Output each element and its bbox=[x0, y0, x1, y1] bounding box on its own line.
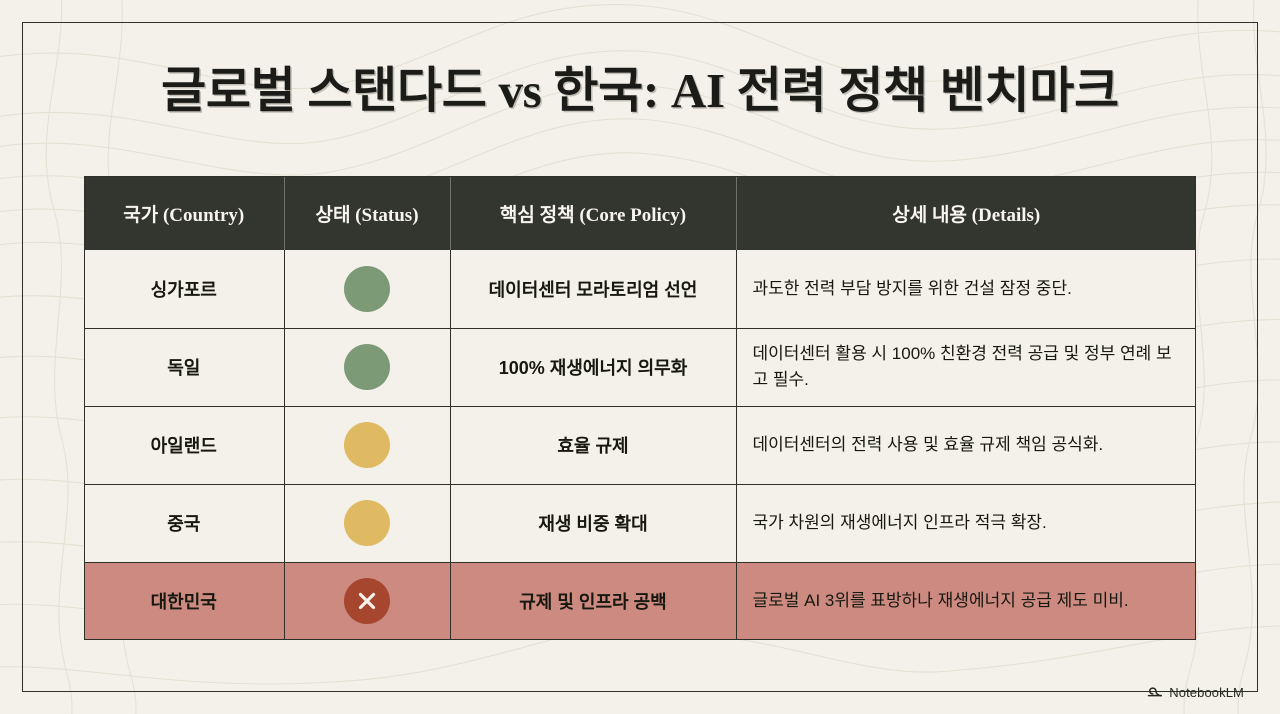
notebooklm-watermark: NotebookLM bbox=[1147, 684, 1244, 700]
column-header-country: 국가 (Country) bbox=[84, 176, 284, 250]
cell-details: 국가 차원의 재생에너지 인프라 적극 확장. bbox=[736, 484, 1196, 562]
cell-country: 아일랜드 bbox=[84, 406, 284, 484]
status-dot-amber-icon bbox=[344, 422, 390, 468]
status-dot-amber-icon bbox=[344, 500, 390, 546]
table-body: 싱가포르 데이터센터 모라토리엄 선언 과도한 전력 부담 방지를 위한 건설 … bbox=[84, 250, 1196, 640]
cell-status bbox=[284, 250, 450, 328]
cell-core-policy: 재생 비중 확대 bbox=[450, 484, 736, 562]
table-row: 독일 100% 재생에너지 의무화 데이터센터 활용 시 100% 친환경 전력… bbox=[84, 328, 1196, 406]
cell-details: 과도한 전력 부담 방지를 위한 건설 잠정 중단. bbox=[736, 250, 1196, 328]
cell-status bbox=[284, 484, 450, 562]
table-header-row: 국가 (Country) 상태 (Status) 핵심 정책 (Core Pol… bbox=[84, 176, 1196, 250]
cell-core-policy: 100% 재생에너지 의무화 bbox=[450, 328, 736, 406]
notebooklm-watermark-label: NotebookLM bbox=[1169, 685, 1244, 700]
table-row: 아일랜드 효율 규제 데이터센터의 전력 사용 및 효율 규제 책임 공식화. bbox=[84, 406, 1196, 484]
column-header-details: 상세 내용 (Details) bbox=[736, 176, 1196, 250]
status-cross-red-icon bbox=[344, 578, 390, 624]
cell-country: 중국 bbox=[84, 484, 284, 562]
table-row: 중국 재생 비중 확대 국가 차원의 재생에너지 인프라 적극 확장. bbox=[84, 484, 1196, 562]
cell-core-policy: 데이터센터 모라토리엄 선언 bbox=[450, 250, 736, 328]
cell-details: 글로벌 AI 3위를 표방하나 재생에너지 공급 제도 미비. bbox=[736, 562, 1196, 640]
benchmark-table: 국가 (Country) 상태 (Status) 핵심 정책 (Core Pol… bbox=[84, 176, 1196, 640]
cell-details: 데이터센터 활용 시 100% 친환경 전력 공급 및 정부 연례 보고 필수. bbox=[736, 328, 1196, 406]
table-row-highlighted: 대한민국 규제 및 인프라 공백 글로벌 AI 3위를 표방하나 재생에너지 공… bbox=[84, 562, 1196, 640]
table-row: 싱가포르 데이터센터 모라토리엄 선언 과도한 전력 부담 방지를 위한 건설 … bbox=[84, 250, 1196, 328]
column-header-status: 상태 (Status) bbox=[284, 176, 450, 250]
cell-country: 대한민국 bbox=[84, 562, 284, 640]
status-dot-green-icon bbox=[344, 266, 390, 312]
cell-country: 싱가포르 bbox=[84, 250, 284, 328]
cell-country: 독일 bbox=[84, 328, 284, 406]
cell-core-policy: 규제 및 인프라 공백 bbox=[450, 562, 736, 640]
cell-core-policy: 효율 규제 bbox=[450, 406, 736, 484]
cell-status bbox=[284, 406, 450, 484]
cell-status bbox=[284, 328, 450, 406]
cell-details: 데이터센터의 전력 사용 및 효율 규제 책임 공식화. bbox=[736, 406, 1196, 484]
column-header-core-policy: 핵심 정책 (Core Policy) bbox=[450, 176, 736, 250]
page-title: 글로벌 스탠다드 vs 한국: AI 전력 정책 벤치마크 bbox=[0, 62, 1280, 120]
benchmark-table-container: 국가 (Country) 상태 (Status) 핵심 정책 (Core Pol… bbox=[84, 176, 1196, 640]
cell-status bbox=[284, 562, 450, 640]
status-dot-green-icon bbox=[344, 344, 390, 390]
table-header: 국가 (Country) 상태 (Status) 핵심 정책 (Core Pol… bbox=[84, 176, 1196, 250]
notebooklm-spiral-icon bbox=[1147, 684, 1163, 700]
